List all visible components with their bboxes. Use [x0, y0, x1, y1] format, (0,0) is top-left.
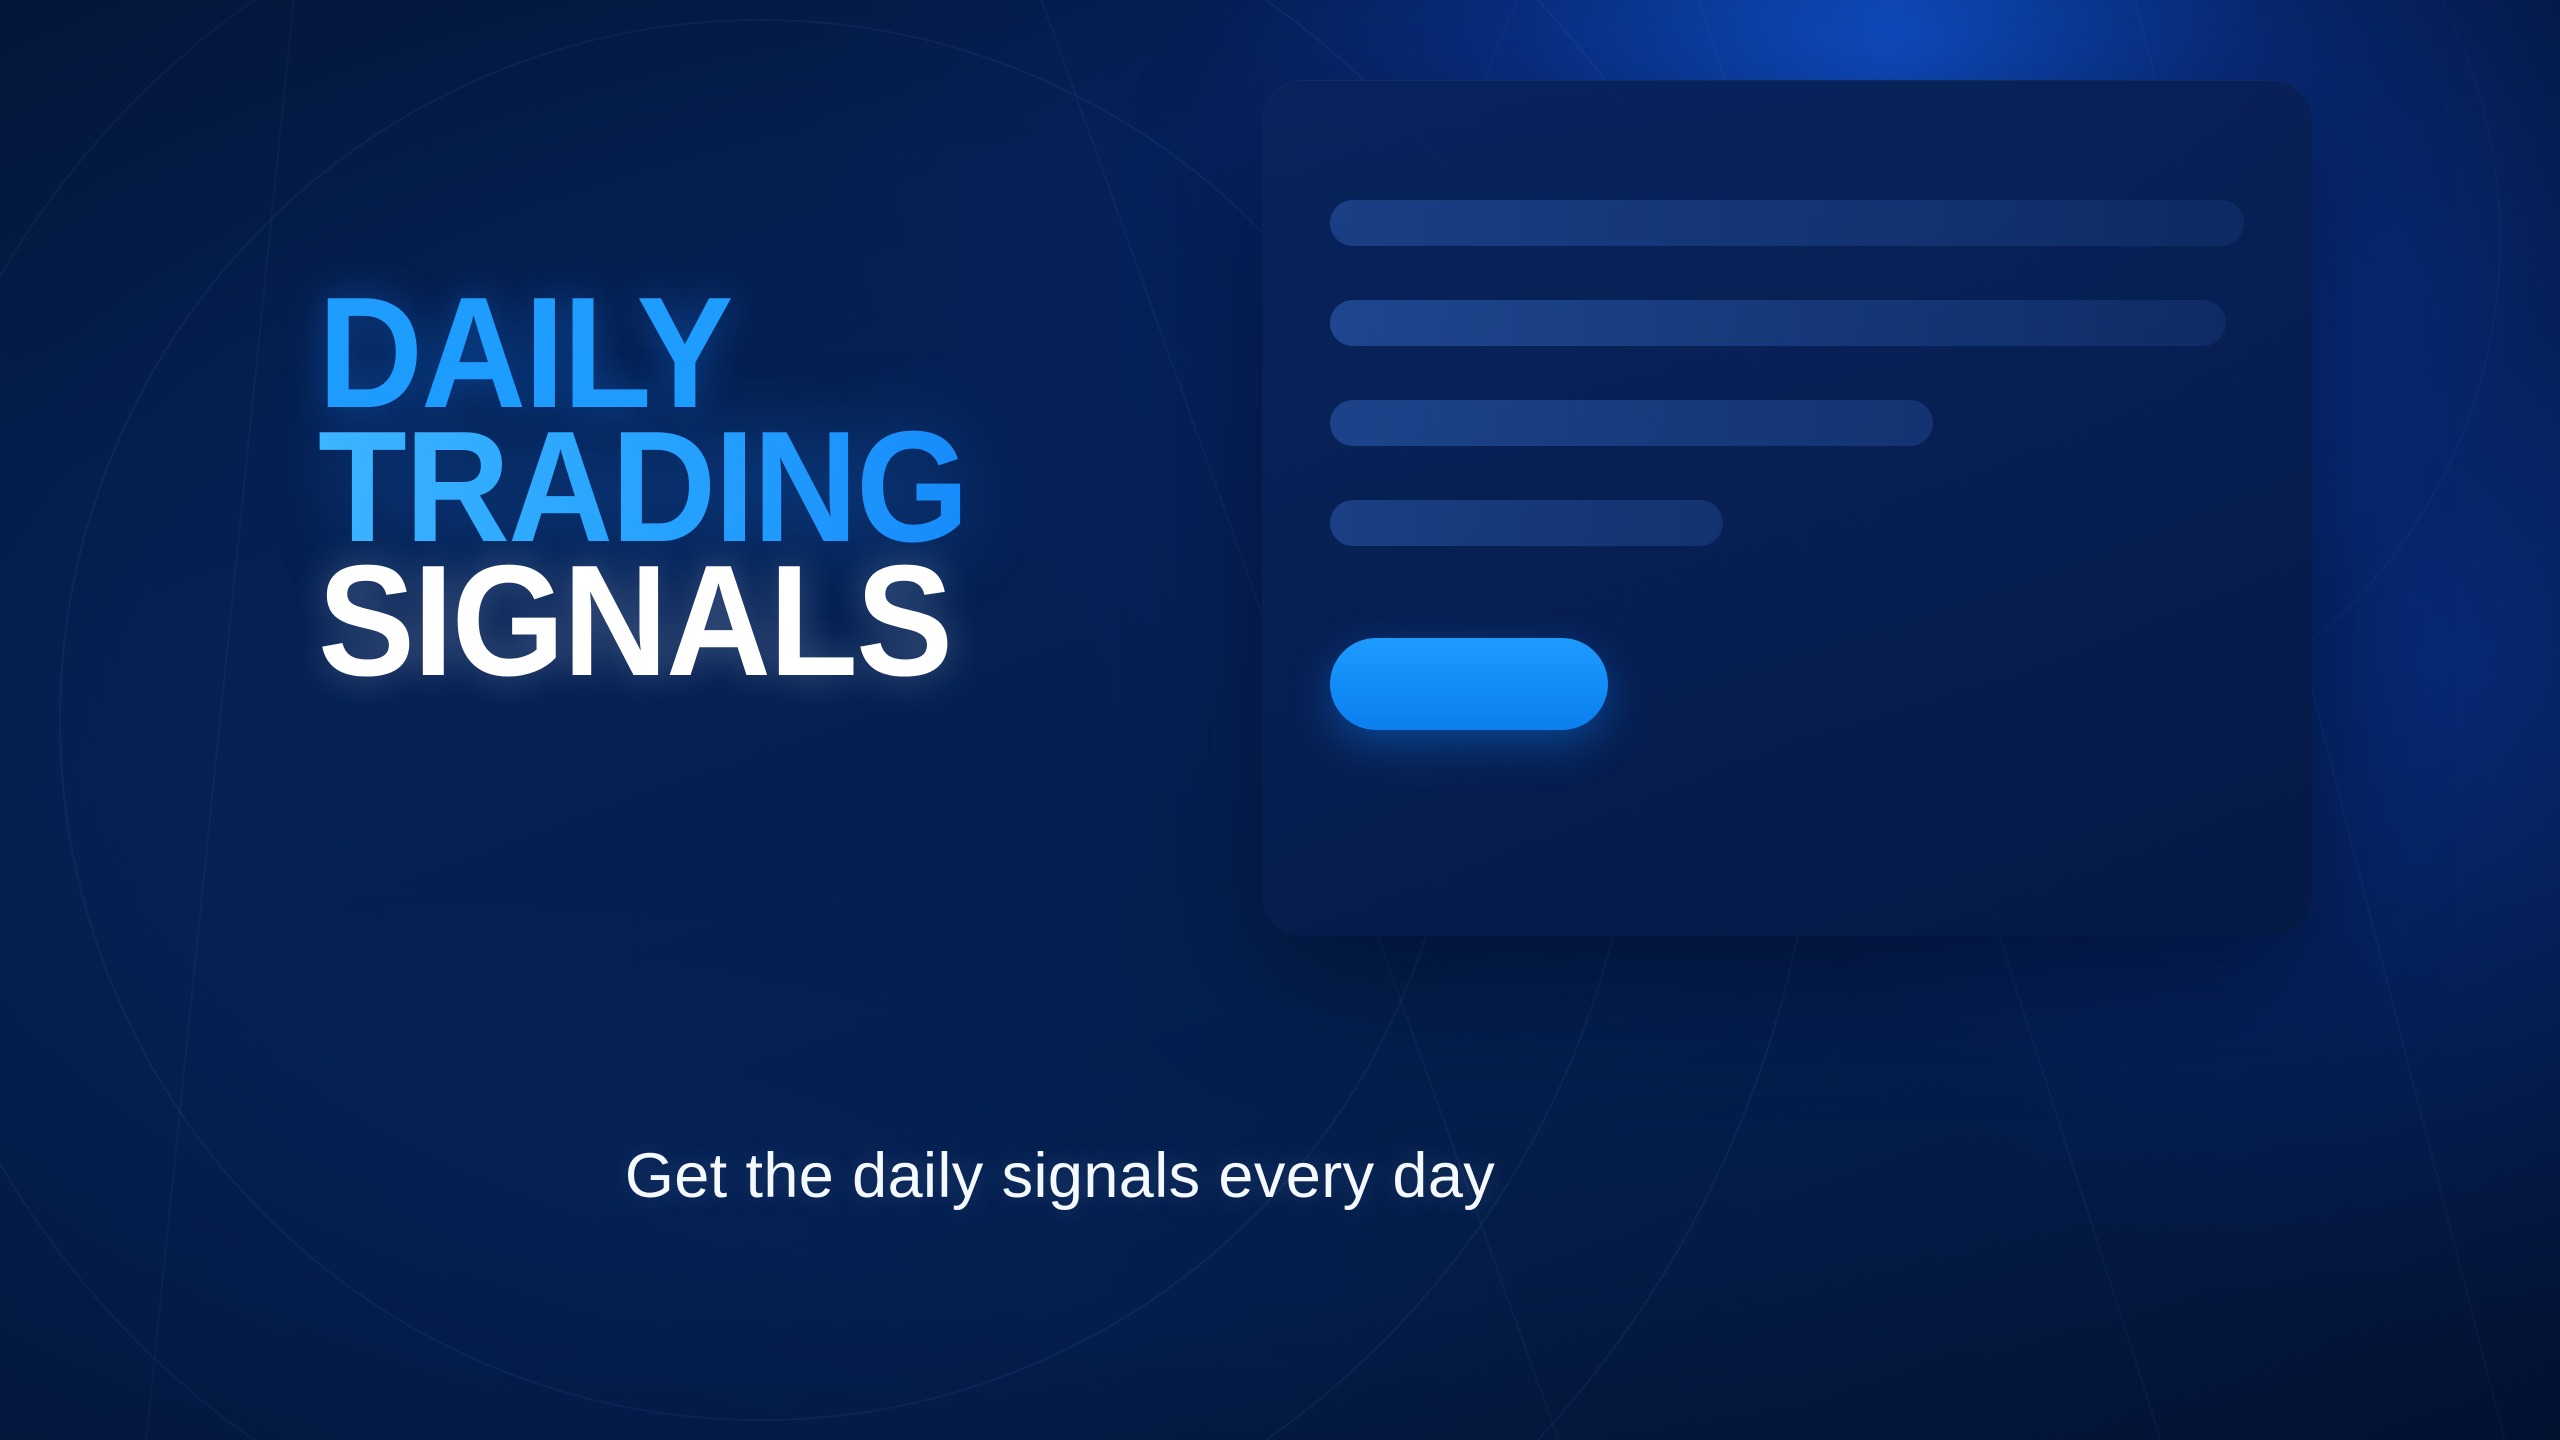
placeholder-bar	[1330, 300, 2226, 346]
subtitle: Get the daily signals every day	[330, 1140, 1790, 1212]
placeholder-bar	[1330, 200, 2244, 246]
signal-card-panel	[1262, 80, 2312, 936]
headline-line-signals: SIGNALS	[318, 554, 1330, 688]
promo-banner: DAILY TRADING SIGNALS Get the daily sign…	[0, 0, 2560, 1440]
headline: DAILY TRADING SIGNALS	[318, 286, 1418, 688]
placeholder-bar	[1330, 400, 1933, 446]
signal-card-body	[1330, 200, 2244, 730]
